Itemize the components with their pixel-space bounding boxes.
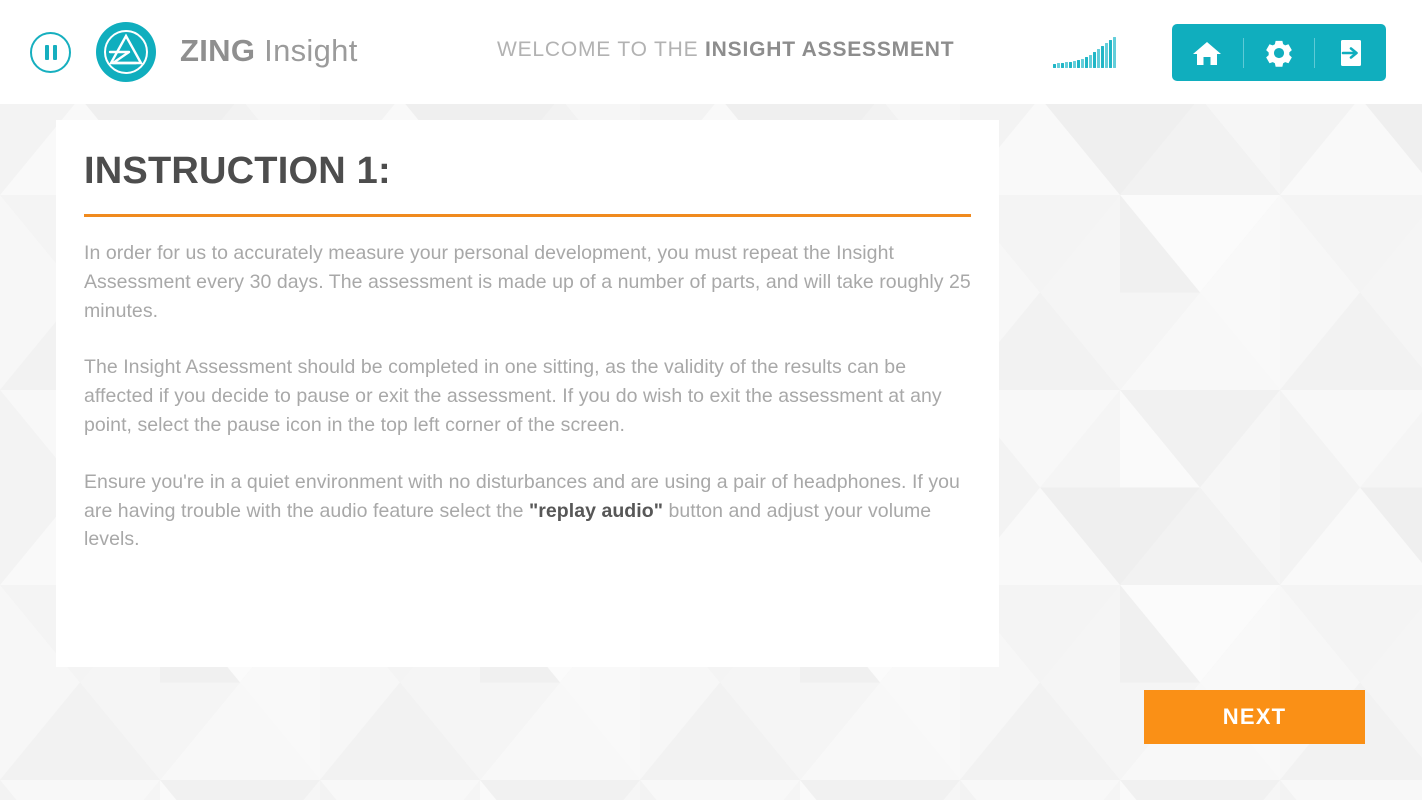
instruction-paragraph-1: In order for us to accurately measure yo… xyxy=(84,239,974,325)
replay-audio-quoted-text: "replay audio" xyxy=(529,500,663,522)
audio-meter-bar xyxy=(1057,63,1060,68)
pause-button[interactable] xyxy=(30,32,71,73)
audio-meter-bar xyxy=(1053,64,1056,68)
zing-logo-icon[interactable] xyxy=(96,22,156,82)
welcome-assessment-name: INSIGHT ASSESSMENT xyxy=(705,38,954,61)
home-button[interactable] xyxy=(1172,24,1243,81)
instruction-paragraph-2: The Insight Assessment should be complet… xyxy=(84,353,974,439)
instruction-card: INSTRUCTION 1: In order for us to accura… xyxy=(56,120,999,667)
audio-meter-bar xyxy=(1081,59,1084,68)
exit-icon xyxy=(1337,38,1365,68)
brand-name-secondary: Insight xyxy=(264,33,357,68)
audio-meter-bar xyxy=(1089,55,1092,68)
brand-name-primary: ZING xyxy=(180,33,255,68)
next-button[interactable]: NEXT xyxy=(1144,690,1365,744)
exit-button[interactable] xyxy=(1315,24,1386,81)
audio-meter-bar xyxy=(1093,52,1096,68)
home-icon xyxy=(1192,39,1222,67)
title-underline xyxy=(84,214,971,217)
audio-meter-bar xyxy=(1085,57,1088,68)
audio-level-meter-icon xyxy=(1053,36,1131,68)
audio-meter-bar xyxy=(1109,40,1112,68)
welcome-prefix: WELCOME TO THE xyxy=(497,38,698,61)
pause-icon xyxy=(45,45,49,60)
app-header: ZING Insight WELCOME TO THE INSIGHT ASSE… xyxy=(0,0,1422,104)
page-title: WELCOME TO THE INSIGHT ASSESSMENT xyxy=(497,38,954,62)
instruction-paragraph-3: Ensure you're in a quiet environment wit… xyxy=(84,468,974,554)
gear-icon xyxy=(1264,38,1294,68)
card-title: INSTRUCTION 1: xyxy=(84,152,999,190)
audio-meter-bar xyxy=(1065,62,1068,68)
audio-meter-bar xyxy=(1113,37,1116,68)
settings-button[interactable] xyxy=(1244,24,1315,81)
audio-meter-bar xyxy=(1097,49,1100,68)
audio-meter-bar xyxy=(1073,61,1076,68)
audio-meter-bar xyxy=(1101,46,1104,68)
audio-meter-bar xyxy=(1105,43,1108,68)
pause-icon-bar-2 xyxy=(53,45,57,60)
header-action-bar xyxy=(1172,24,1386,81)
audio-meter-bar xyxy=(1069,62,1072,68)
audio-meter-bar xyxy=(1077,60,1080,68)
audio-meter-bar xyxy=(1061,63,1064,68)
brand-title: ZING Insight xyxy=(180,33,358,69)
